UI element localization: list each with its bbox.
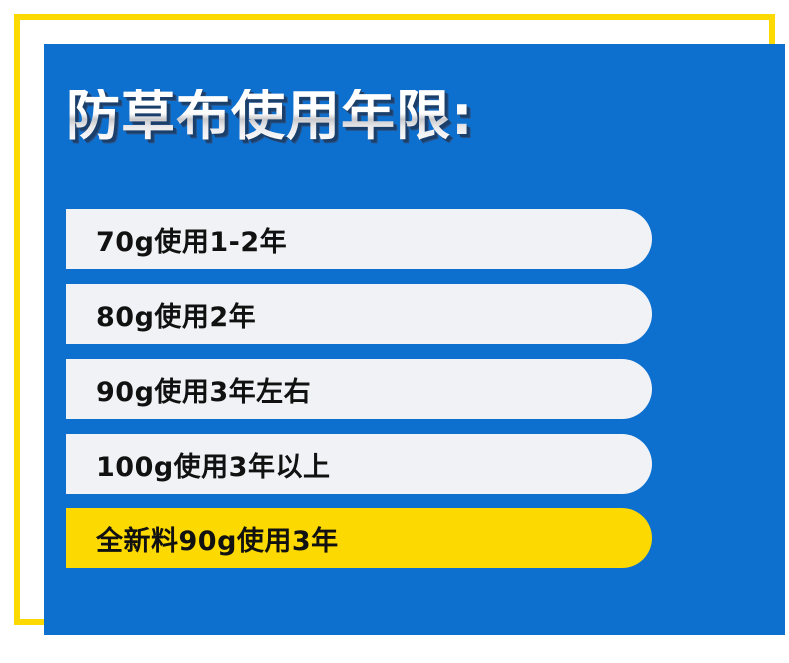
list-item-label: 100g使用3年以上	[96, 445, 330, 484]
list-item: 80g使用2年	[66, 284, 652, 344]
list-item: 100g使用3年以上	[66, 434, 652, 494]
poster-canvas: 防草布使用年限: 70g使用1-2年 80g使用2年 90g使用3年左右 100…	[0, 0, 789, 663]
page-title: 防草布使用年限:	[66, 89, 474, 143]
list-item-label: 90g使用3年左右	[96, 370, 311, 409]
list-item-label: 全新料90g使用3年	[96, 519, 339, 558]
list-item: 90g使用3年左右	[66, 359, 652, 419]
list-item-label: 70g使用1-2年	[96, 220, 287, 259]
title-container: 防草布使用年限:	[66, 80, 474, 152]
yellow-border-frame: 防草布使用年限: 70g使用1-2年 80g使用2年 90g使用3年左右 100…	[14, 14, 775, 625]
list-item: 70g使用1-2年	[66, 209, 652, 269]
list-item-label: 80g使用2年	[96, 295, 256, 334]
list-item-highlighted: 全新料90g使用3年	[66, 508, 652, 568]
blue-content-panel: 防草布使用年限: 70g使用1-2年 80g使用2年 90g使用3年左右 100…	[44, 44, 785, 635]
